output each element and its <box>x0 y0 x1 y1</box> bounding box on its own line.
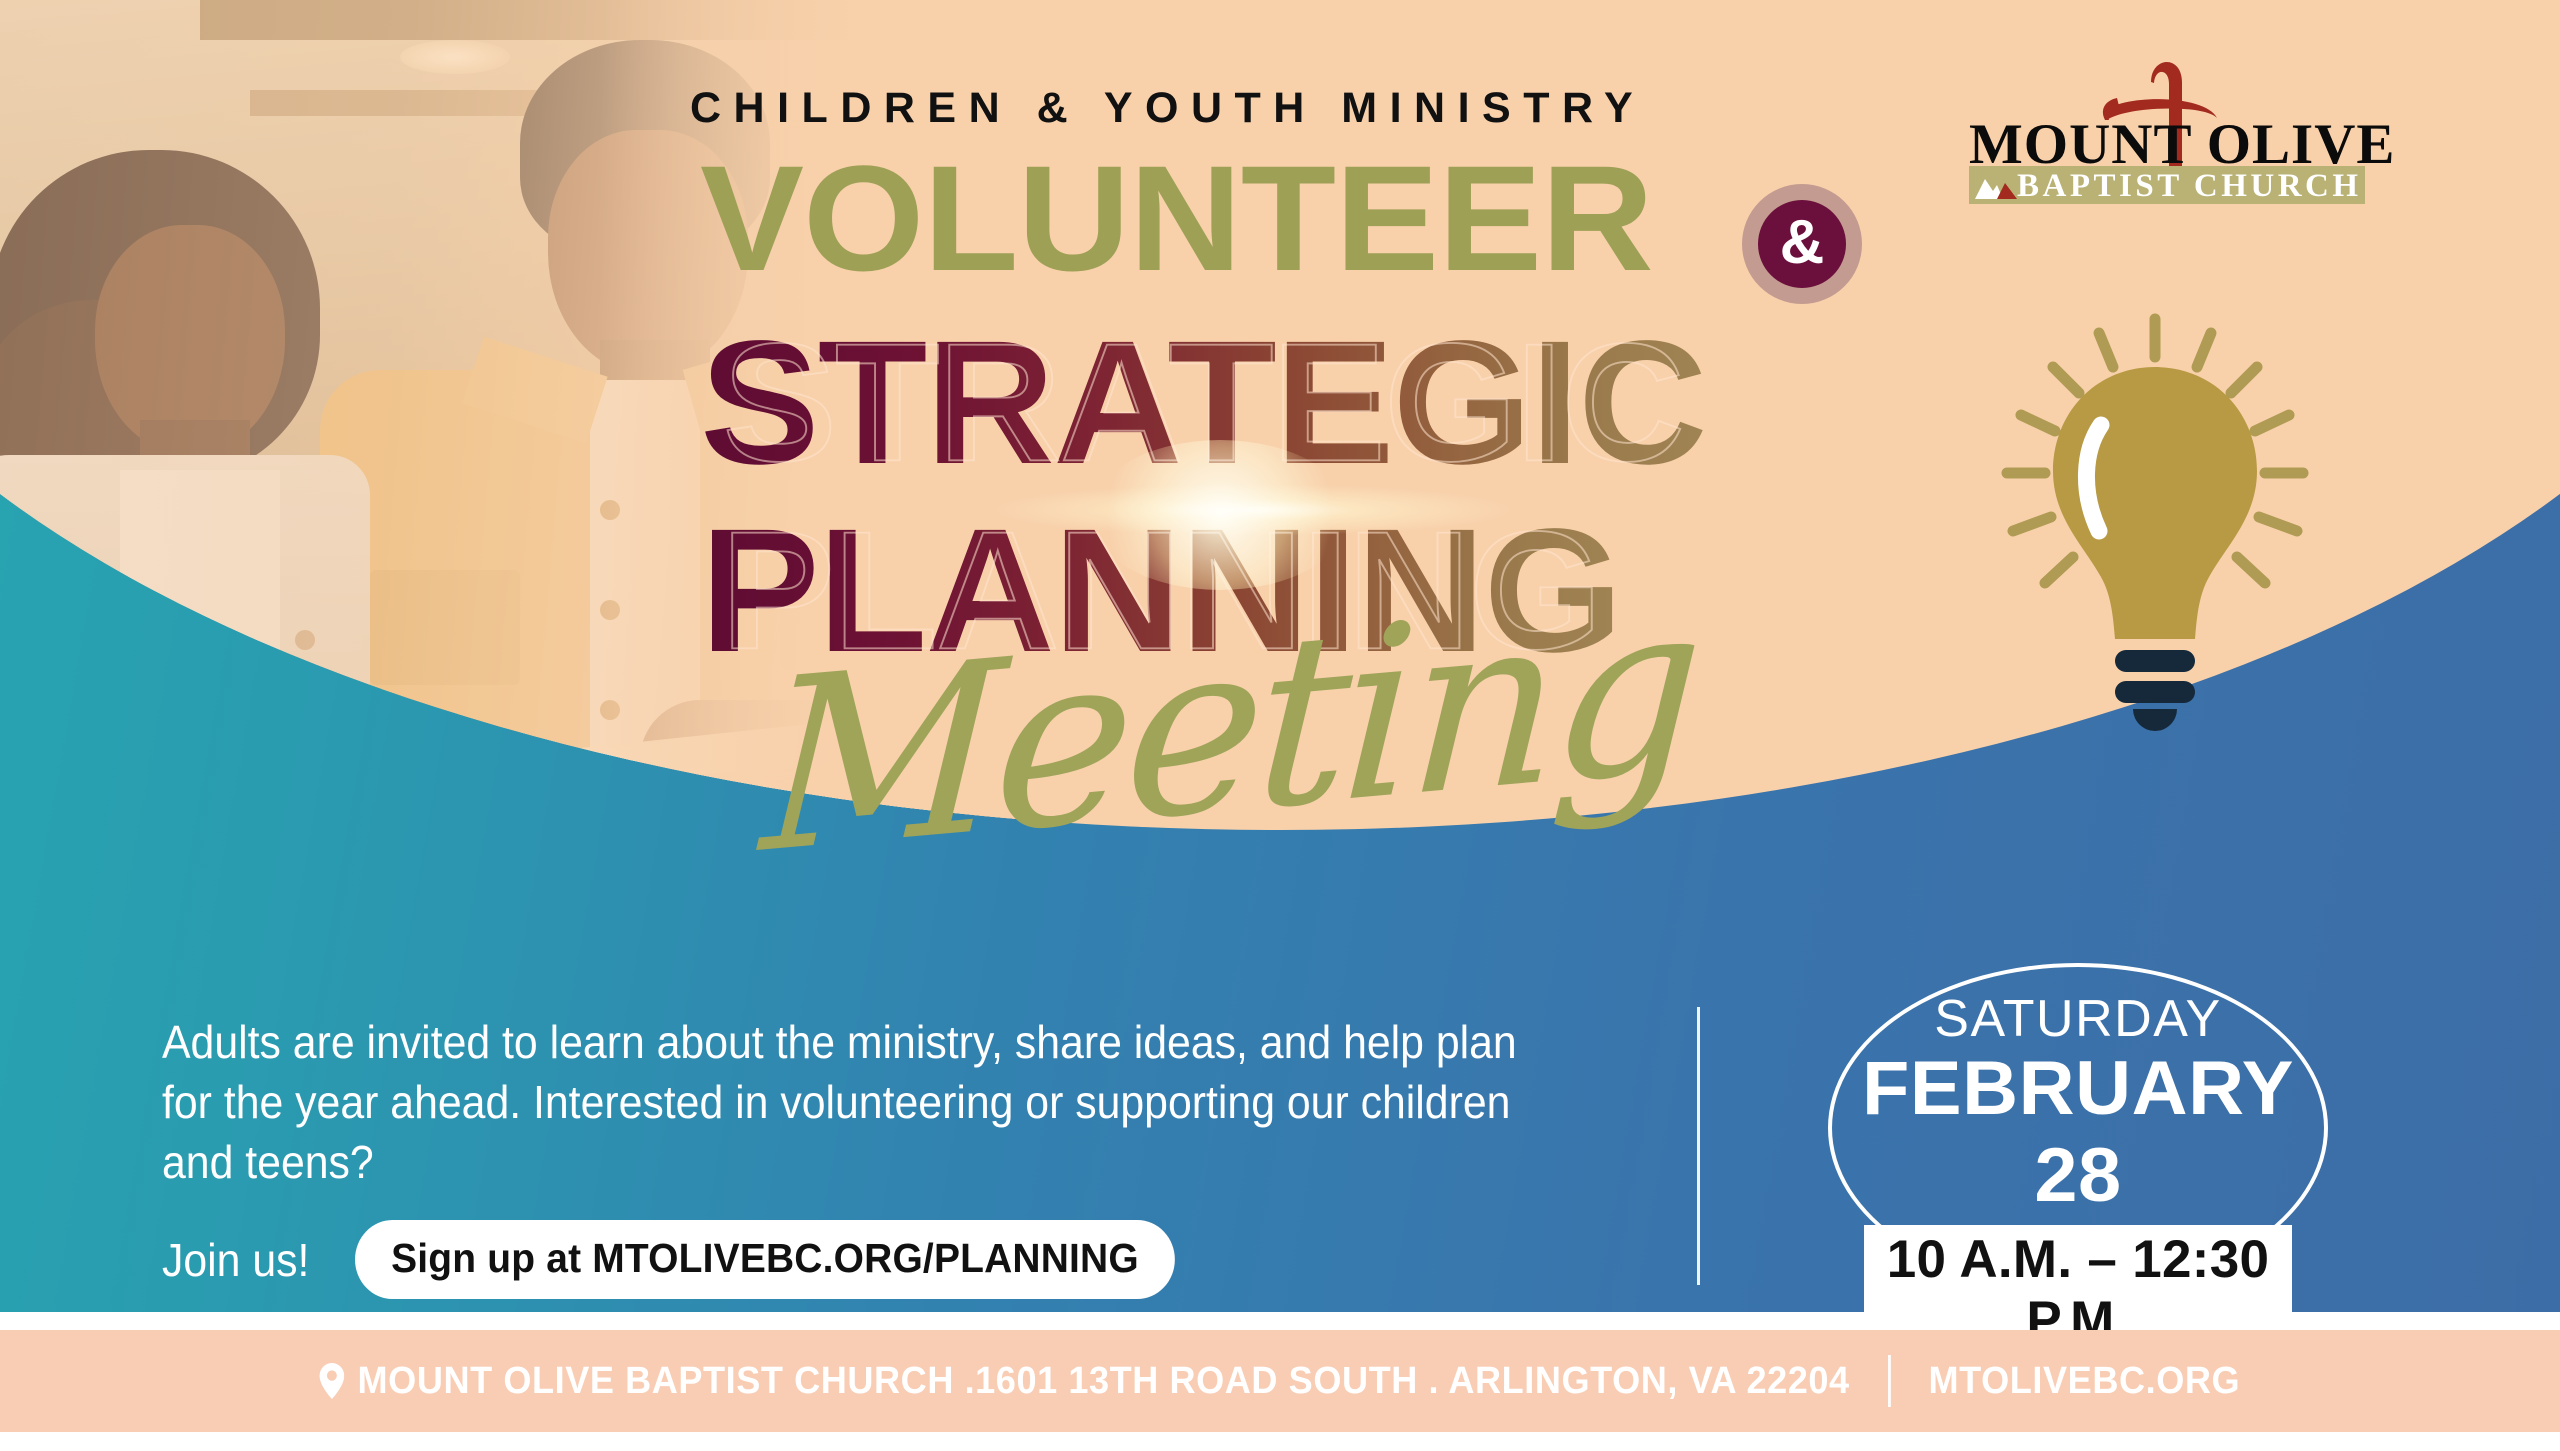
ampersand-glyph: & <box>1742 184 1862 304</box>
footer-bar: MOUNT OLIVE BAPTIST CHURCH .1601 13TH RO… <box>0 1330 2560 1432</box>
join-row: Join us! Sign up at MTOLIVEBC.ORG/PLANNI… <box>162 1220 1218 1299</box>
footer-separator <box>1888 1355 1891 1407</box>
event-day: SATURDAY <box>1832 989 2324 1049</box>
logo-line-2: BAPTIST CHURCH <box>2017 168 2362 205</box>
page-kicker: CHILDREN & YOUTH MINISTRY <box>690 84 1890 133</box>
body-paragraph: Adults are invited to learn about the mi… <box>162 1013 1520 1192</box>
title-volunteer: VOLUNTEER <box>700 143 1653 293</box>
vertical-divider <box>1697 1007 1700 1285</box>
event-details-badge: SATURDAY FEBRUARY 28 10 A.M. – 12:30 P.M… <box>1828 963 2328 1293</box>
footer-address-row: MOUNT OLIVE BAPTIST CHURCH .1601 13TH RO… <box>320 1355 2241 1407</box>
mountain-icon <box>1973 171 2019 201</box>
church-logo: MOUNT OLIVE BAPTIST CHURCH <box>1955 50 2375 200</box>
ampersand-badge: & <box>1742 184 1862 304</box>
signup-button[interactable]: Sign up at MTOLIVEBC.ORG/PLANNING <box>355 1220 1175 1299</box>
footer-address: MOUNT OLIVE BAPTIST CHURCH .1601 13TH RO… <box>358 1360 1850 1403</box>
flyer-canvas: CHILDREN & YOUTH MINISTRY VOLUNTEER & ST… <box>0 0 2560 1451</box>
location-pin-icon <box>320 1363 345 1399</box>
lightbulb-icon <box>1995 295 2315 750</box>
footer-website[interactable]: MTOLIVEBC.ORG <box>1929 1360 2241 1403</box>
event-date: FEBRUARY 28 <box>1827 1045 2329 1219</box>
join-us-label: Join us! <box>162 1233 309 1287</box>
title-strategic: STRATEGIC <box>700 315 1706 491</box>
